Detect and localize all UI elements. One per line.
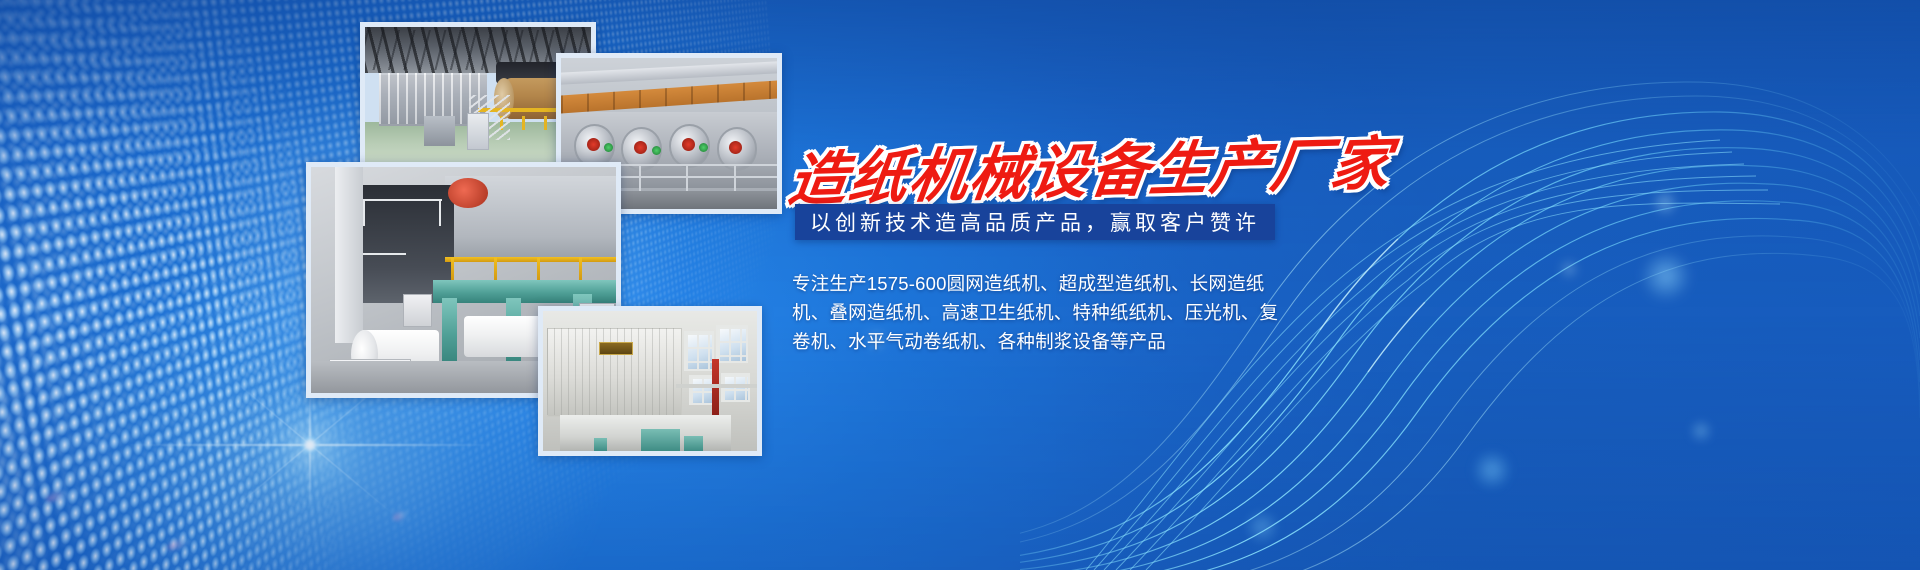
bokeh-6 (1245, 510, 1279, 544)
product-description: 专注生产1575-600圆网造纸机、超成型造纸机、长网造纸机、叠网造纸机、高速卫… (792, 269, 1282, 356)
photo-dryer-hood-workshop-image (543, 311, 757, 451)
bokeh-4 (1690, 420, 1712, 442)
page-title: 造纸机械设备生产厂家 (785, 136, 1295, 212)
bokeh-3 (1472, 450, 1512, 490)
bokeh-2 (1652, 190, 1678, 216)
bokeh-1 (1640, 250, 1692, 302)
subtitle-text: 以创新技术造高品质产品，赢取客户赞许 (810, 207, 1260, 237)
photo-dryer-hood-workshop[interactable] (538, 306, 762, 456)
bokeh-5 (1560, 260, 1578, 278)
promo-banner: 造纸机械设备生产厂家 以创新技术造高品质产品，赢取客户赞许 专注生产1575-6… (0, 0, 1920, 570)
subtitle-banner: 以创新技术造高品质产品，赢取客户赞许 (795, 204, 1275, 240)
